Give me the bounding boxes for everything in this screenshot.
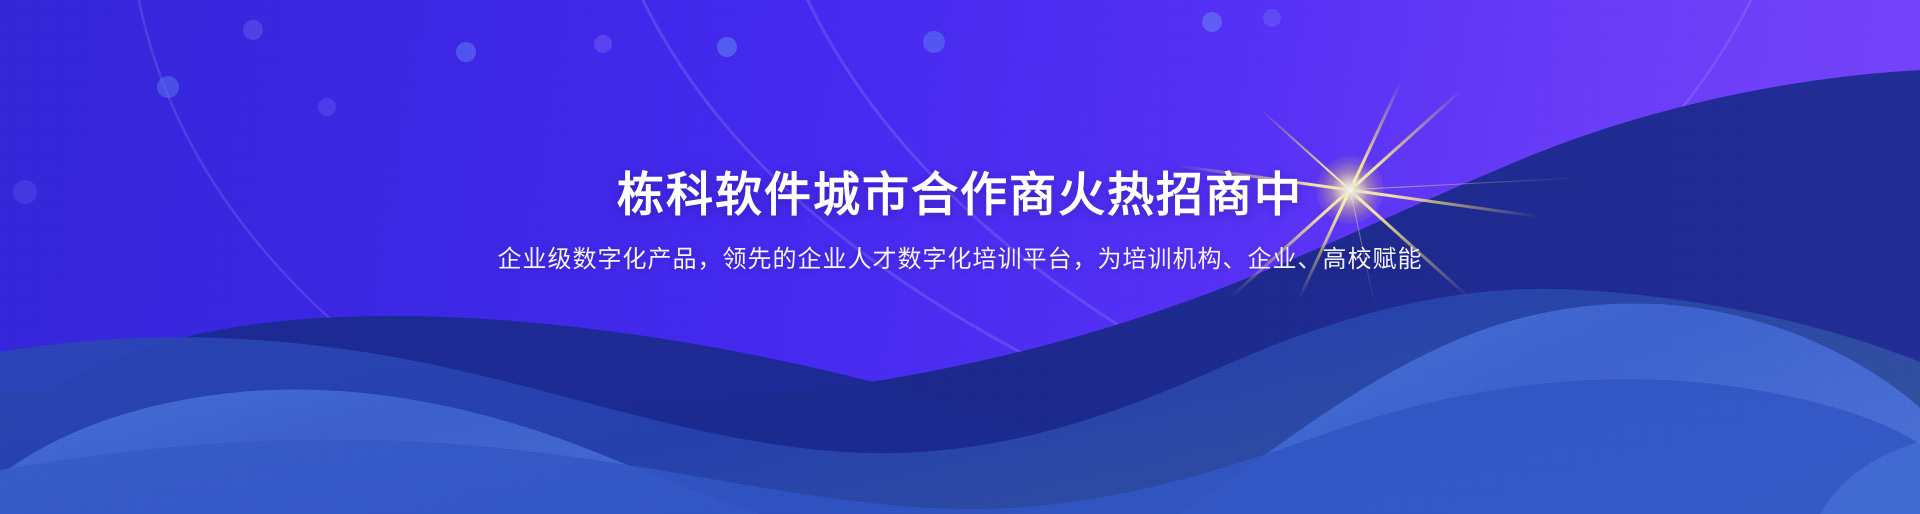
hero-banner: 栋科软件城市合作商火热招商中 企业级数字化产品，领先的企业人才数字化培训平台，为… [0, 0, 1920, 514]
banner-subheadline: 企业级数字化产品，领先的企业人才数字化培训平台，为培训机构、企业、高校赋能 [0, 244, 1920, 276]
banner-headline: 栋科软件城市合作商火热招商中 [0, 168, 1920, 222]
banner-text-block: 栋科软件城市合作商火热招商中 企业级数字化产品，领先的企业人才数字化培训平台，为… [0, 168, 1920, 276]
